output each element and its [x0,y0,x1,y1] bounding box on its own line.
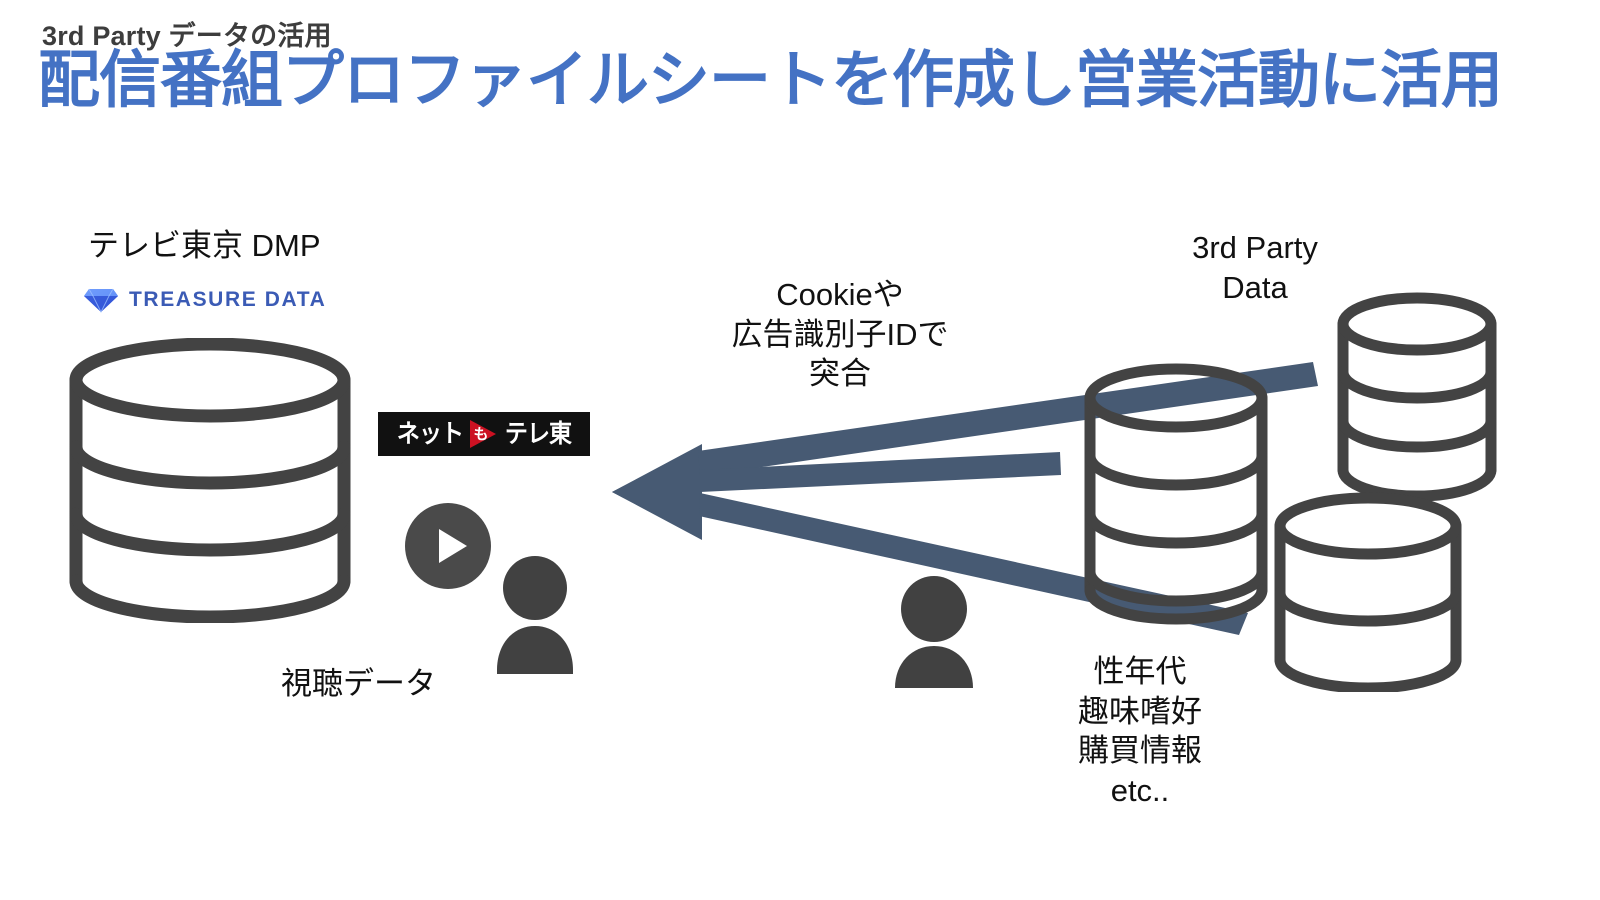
label-tv-tokyo-dmp: テレビ東京 DMP [88,226,321,266]
label-viewing-data: 視聴データ [281,664,436,704]
play-circle-icon [405,503,491,589]
page-title: 配信番組プロファイルシートを作成し営業活動に活用 [38,48,1502,115]
slide-canvas: 3rd Party データの活用 配信番組プロファイルシートを作成し営業活動に活… [0,0,1600,900]
label-attributes: 性年代 趣味嗜好 購買情報 etc.. [1020,652,1260,811]
database-cylinder-icon-3rd-party-3 [1268,492,1468,692]
database-cylinder-icon-3rd-party-2 [1332,292,1502,502]
person-icon-audience [893,576,975,688]
nettv-logo-text-right: テレ東 [505,422,571,447]
label-cookie-match-note: Cookieや 広告識別子IDで 突合 [700,275,980,394]
net-mo-tele-to-logo: ネット も テレ東 [378,412,590,456]
treasure-data-logo: TREASURE DATA [84,287,326,313]
nettv-logo-text-left: ネット [397,422,463,447]
database-cylinder-icon-3rd-party-1 [1078,362,1274,628]
arrow-shaft-middle [700,452,1061,492]
treasure-data-wordmark: TREASURE DATA [129,288,326,312]
nettv-logo-play-glyph: も [473,427,488,442]
arrow-head [612,446,700,538]
play-triangle-icon: も [470,420,498,448]
person-icon-viewer [495,556,575,674]
arrow-head-fill [612,444,702,540]
database-cylinder-icon-tv-tokyo [60,338,360,623]
diamond-gem-icon [84,287,118,313]
